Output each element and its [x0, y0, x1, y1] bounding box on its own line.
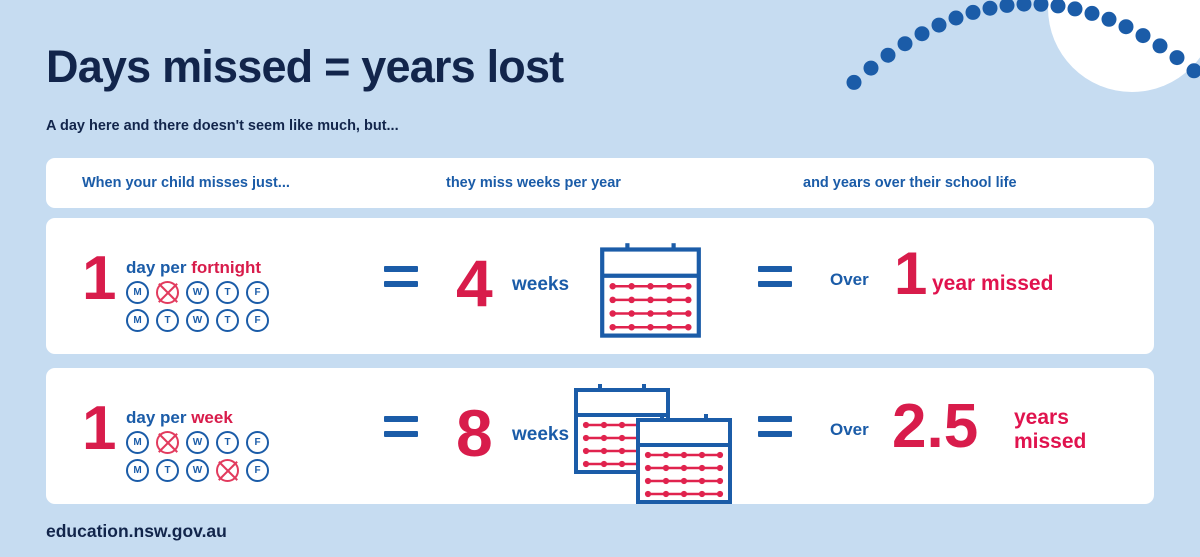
frequency-number: 1: [82, 248, 116, 310]
day-circle-missed[interactable]: T: [216, 459, 239, 482]
data-row-fortnight: 1 day per fortnight MTWTFMTWTF4weeks Ove…: [46, 218, 1154, 354]
decorative-dot: [864, 61, 879, 76]
weeks-word: weeks: [512, 274, 569, 296]
frequency-label-red: week: [191, 408, 233, 427]
column-header-weeks: they miss weeks per year: [446, 175, 621, 191]
day-circle[interactable]: M: [126, 459, 149, 482]
day-circle[interactable]: T: [156, 459, 179, 482]
row-segment-years: Over1year missed: [736, 218, 1154, 354]
footer-url: education.nsw.gov.au: [46, 521, 227, 542]
calendar-icon: [634, 414, 734, 506]
equals-sign-2: [758, 266, 792, 287]
decorative-dot: [1170, 50, 1185, 65]
decorative-dot: [1119, 19, 1134, 34]
row-segment-weeks: 8weeks: [364, 368, 736, 504]
decorative-white-circle: [1048, 0, 1200, 92]
decorative-dot: [1153, 38, 1168, 53]
decorative-dot: [1085, 6, 1100, 21]
day-circle-missed[interactable]: T: [156, 431, 179, 454]
row-segment-frequency: 1 day per week MTWTFMTWTF: [46, 368, 364, 504]
years-missed-line-1: years: [1014, 406, 1086, 430]
decorative-dot: [915, 26, 930, 41]
over-word: Over: [830, 270, 869, 290]
years-number: 2.5: [892, 396, 978, 458]
weeks-number: 8: [456, 400, 493, 466]
years-missed-label: years missed: [1014, 406, 1086, 453]
decorative-dot: [847, 75, 862, 90]
decorative-dot: [1136, 28, 1151, 43]
decorative-dot: [1051, 0, 1066, 13]
day-circle[interactable]: F: [246, 309, 269, 332]
column-header-years: and years over their school life: [803, 175, 1017, 191]
decorative-dot: [949, 11, 964, 26]
decorative-dot: [1034, 0, 1049, 12]
week-row: MTWTF: [126, 431, 269, 454]
week-day-grid: MTWTFMTWTF: [126, 281, 269, 337]
week-row: MTWTF: [126, 309, 269, 332]
day-circle[interactable]: W: [186, 281, 209, 304]
day-circle[interactable]: W: [186, 459, 209, 482]
frequency-label-blue: day per: [126, 258, 191, 277]
table-header-card: When your child misses just... they miss…: [46, 158, 1154, 208]
calendar-icon: [598, 243, 703, 340]
column-header-when: When your child misses just...: [82, 175, 290, 191]
day-circle[interactable]: T: [156, 309, 179, 332]
years-missed-label: year missed: [932, 272, 1053, 296]
day-circle[interactable]: F: [246, 431, 269, 454]
frequency-label-red: fortnight: [191, 258, 261, 277]
day-circle[interactable]: T: [216, 309, 239, 332]
decorative-dot: [881, 48, 896, 63]
decorative-dot-group: [847, 0, 1200, 90]
row-segment-years: Over2.5 years missed: [736, 368, 1154, 504]
weeks-number: 4: [456, 250, 493, 316]
years-missed-line-2: missed: [1014, 430, 1086, 454]
day-circle[interactable]: M: [126, 309, 149, 332]
frequency-label: day per fortnight: [126, 258, 261, 278]
frequency-label: day per week: [126, 408, 233, 428]
day-circle[interactable]: F: [246, 459, 269, 482]
over-word: Over: [830, 420, 869, 440]
week-day-grid: MTWTFMTWTF: [126, 431, 269, 487]
week-row: MTWTF: [126, 459, 269, 482]
equals-sign-1: [384, 416, 418, 437]
day-circle[interactable]: F: [246, 281, 269, 304]
row-segment-weeks: 4weeks: [364, 218, 736, 354]
decorative-dot: [966, 5, 981, 20]
decorative-dot: [1187, 63, 1200, 78]
decorative-dot: [983, 1, 998, 16]
decorative-dot: [1017, 0, 1032, 12]
equals-sign-1: [384, 266, 418, 287]
weeks-word: weeks: [512, 424, 569, 446]
frequency-number: 1: [82, 398, 116, 460]
decorative-dot: [1102, 12, 1117, 27]
years-number: 1: [894, 244, 927, 304]
page-title: Days missed = years lost: [46, 44, 563, 89]
decorative-dotted-arc: [840, 0, 1200, 130]
day-circle[interactable]: M: [126, 281, 149, 304]
equals-sign-2: [758, 416, 792, 437]
decorative-dot: [932, 18, 947, 33]
week-row: MTWTF: [126, 281, 269, 304]
decorative-dot: [1000, 0, 1015, 13]
day-circle[interactable]: T: [216, 431, 239, 454]
frequency-label-blue: day per: [126, 408, 191, 427]
day-circle[interactable]: W: [186, 309, 209, 332]
decorative-dot: [1068, 1, 1083, 16]
page-subtitle: A day here and there doesn't seem like m…: [46, 118, 399, 134]
day-circle[interactable]: M: [126, 431, 149, 454]
day-circle[interactable]: T: [216, 281, 239, 304]
day-circle-missed[interactable]: T: [156, 281, 179, 304]
row-segment-frequency: 1 day per fortnight MTWTFMTWTF: [46, 218, 364, 354]
data-row-week: 1 day per week MTWTFMTWTF8weeks Over2.5 …: [46, 368, 1154, 504]
decorative-dot: [898, 36, 913, 51]
day-circle[interactable]: W: [186, 431, 209, 454]
